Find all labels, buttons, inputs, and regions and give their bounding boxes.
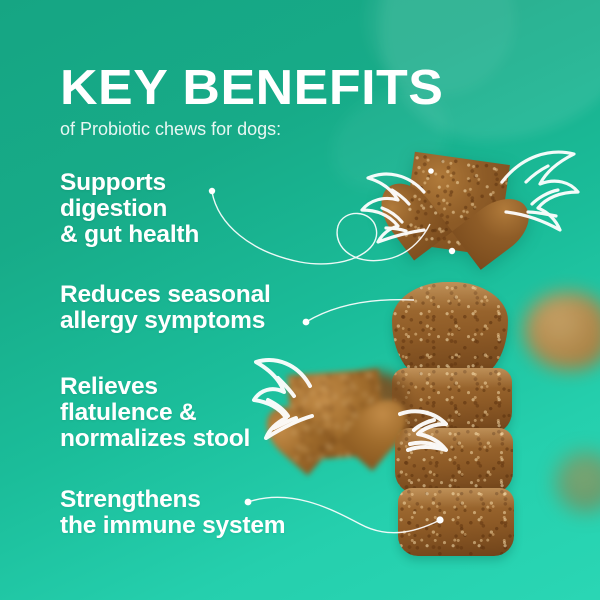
- key-benefits-infographic: KEY BENEFITS of Probiotic chews for dogs…: [0, 0, 600, 600]
- benefit-item-immune: Strengthens the immune system: [60, 487, 285, 539]
- connector-dot: [428, 168, 434, 174]
- stacked-chew-treat: [392, 282, 508, 378]
- blurred-background-treat: [524, 292, 600, 370]
- angel-wings-icon: [352, 140, 582, 270]
- page-subtitle: of Probiotic chews for dogs:: [60, 118, 281, 140]
- stacked-chew-treat: [398, 488, 514, 556]
- treat-highlight: [398, 488, 514, 508]
- connector-line: [212, 192, 430, 264]
- page-title: KEY BENEFITS: [60, 63, 443, 113]
- treat-texture: [402, 152, 510, 256]
- heart-chew-shape: [402, 152, 510, 256]
- benefit-item-allergy: Reduces seasonal allergy symptoms: [60, 282, 271, 334]
- benefit-item-digestion: Supports digestion & gut health: [60, 170, 199, 248]
- connector-dot: [209, 188, 215, 194]
- treat-highlight: [395, 428, 513, 448]
- treat-highlight: [392, 282, 508, 311]
- blurred-background-treat: [352, 372, 408, 442]
- treat-highlight: [392, 368, 512, 388]
- winged-heart-chew-icon: [408, 158, 504, 250]
- benefit-item-flatulence: Relieves flatulence & normalizes stool: [60, 374, 250, 452]
- stacked-chew-treat: [395, 428, 513, 494]
- connector-dot: [303, 319, 310, 326]
- connector-dot: [449, 248, 455, 254]
- stacked-chew-treat: [392, 368, 512, 434]
- blurred-background-treat: [556, 452, 600, 512]
